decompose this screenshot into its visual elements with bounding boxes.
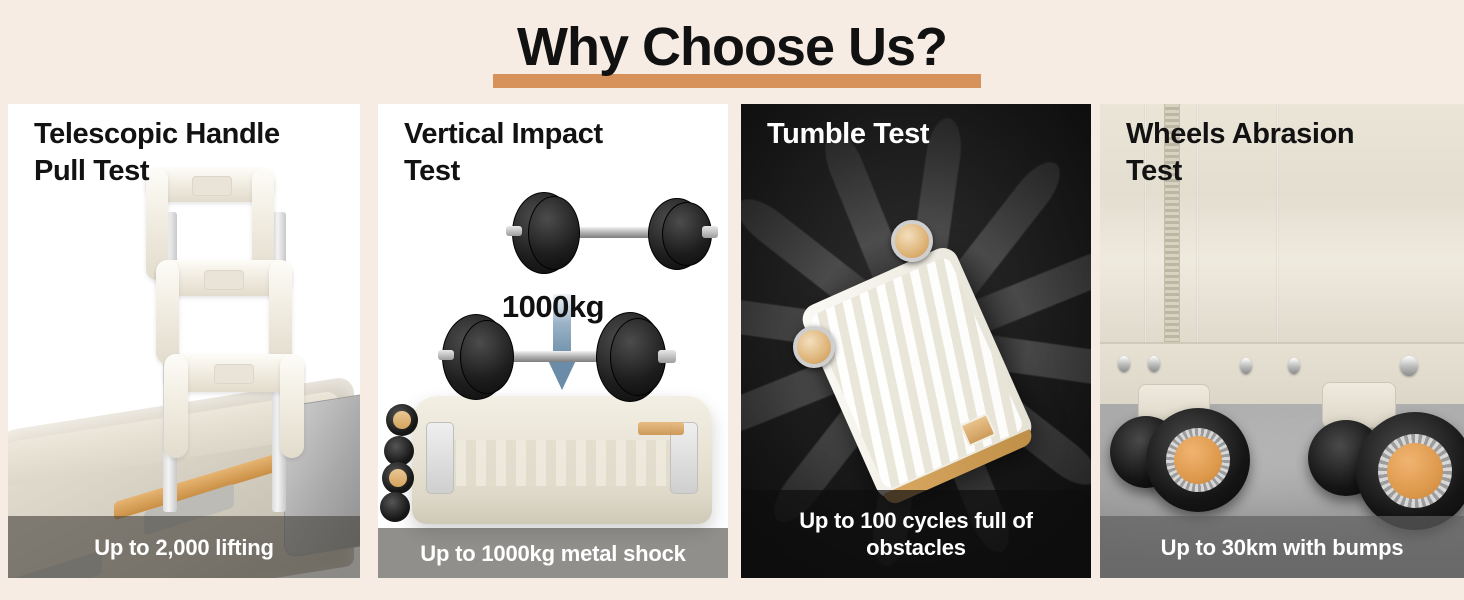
suitcase-gold-trim — [638, 422, 684, 435]
panel-wheels-abrasion-test[interactable]: Wheels Abrasion Test Up to 30km with bum… — [1100, 104, 1464, 578]
suitcase-impact-target — [412, 396, 712, 524]
dumbbell-plate — [460, 320, 514, 394]
suitcase-metal-plate — [426, 422, 454, 494]
suitcase-wheel-hub — [393, 411, 411, 429]
suitcase-wheel-hub — [389, 469, 407, 487]
feature-panel-grid: Telescopic Handle Pull Test Up to 2,000 … — [0, 104, 1464, 578]
handle-stage-middle-leg-right — [269, 260, 292, 364]
dumbbell-upper-illustration — [506, 186, 718, 278]
handle-stage-bottom-leg-left — [164, 354, 188, 458]
dumbbell-collar — [438, 350, 454, 360]
suitcase-wheel-cap — [793, 326, 835, 368]
handle-release-button-bottom[interactable] — [214, 364, 254, 384]
handle-stage-middle-leg-left — [156, 260, 179, 364]
suitcase-rivet — [1148, 356, 1160, 372]
wheel-group-left — [1104, 390, 1274, 530]
dumbbell-collar — [506, 226, 522, 236]
impact-weight-label: 1000kg — [378, 289, 728, 325]
page-heading: Why Choose Us? — [0, 14, 1464, 90]
panel-title-vertical-impact-test: Vertical Impact Test — [404, 116, 705, 190]
handle-stage-bottom-leg-right — [280, 354, 304, 458]
suitcase-rivet — [1240, 358, 1252, 374]
dumbbell-collar — [702, 226, 718, 238]
panel-telescopic-handle-pull-test[interactable]: Telescopic Handle Pull Test Up to 2,000 … — [8, 104, 360, 578]
suitcase-wheel-cap — [891, 220, 933, 262]
panel-caption-telescopic-handle-pull-test: Up to 2,000 lifting — [8, 516, 360, 578]
suitcase-rib-texture — [436, 440, 688, 486]
handle-release-button-middle[interactable] — [204, 270, 244, 290]
suitcase-rivet — [1288, 358, 1300, 374]
panel-title-tumble-test: Tumble Test — [767, 116, 1068, 153]
dumbbell-plate — [528, 196, 580, 270]
suitcase-rivet — [1118, 356, 1130, 372]
panel-vertical-impact-test[interactable]: 1000kg Vertical Impact Test Up to 1000kg… — [378, 104, 728, 578]
panel-title-telescopic-handle-pull-test: Telescopic Handle Pull Test — [34, 116, 337, 190]
suitcase-rivet — [1400, 356, 1418, 376]
panel-caption-vertical-impact-test: Up to 1000kg metal shock — [378, 528, 728, 578]
wheel-hub — [1387, 443, 1443, 499]
panel-caption-wheels-abrasion-test: Up to 30km with bumps — [1100, 516, 1464, 578]
panel-tumble-test[interactable]: Tumble Test Up to 100 cycles full of obs… — [741, 104, 1091, 578]
dumbbell-collar — [658, 350, 676, 363]
wheel-hub — [1174, 436, 1222, 484]
panel-title-wheels-abrasion-test: Wheels Abrasion Test — [1126, 116, 1439, 190]
suitcase-wheel — [380, 492, 410, 522]
panel-caption-tumble-test: Up to 100 cycles full of obstacles — [741, 490, 1091, 578]
page-title: Why Choose Us? — [0, 14, 1464, 80]
